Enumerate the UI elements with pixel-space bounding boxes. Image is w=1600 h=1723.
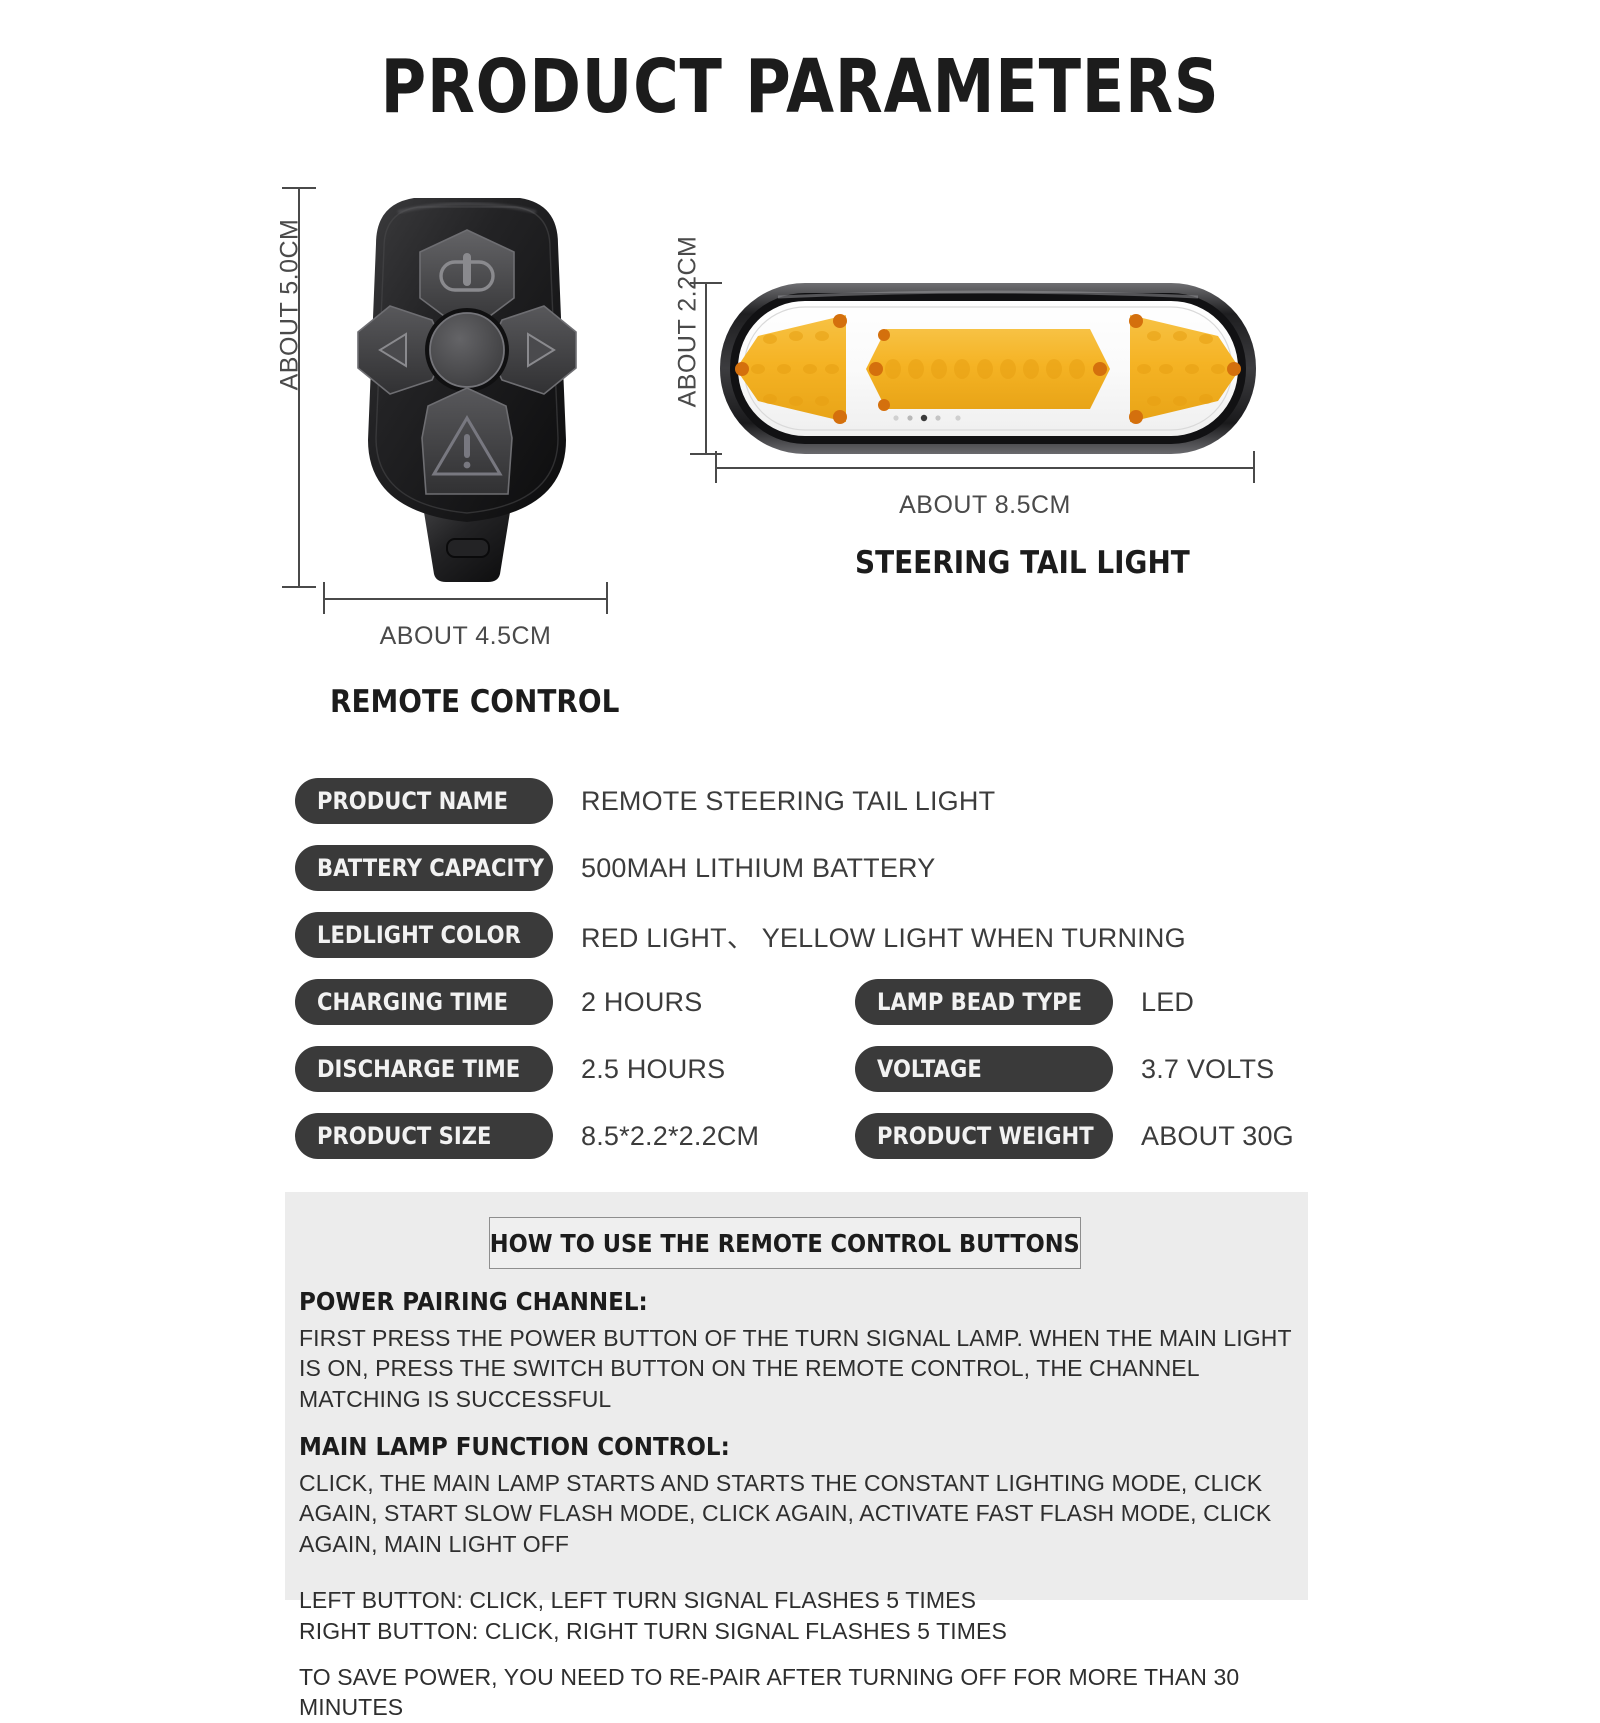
spec-value: 2 HOURS: [581, 987, 702, 1018]
status-badge: LEDLIGHT COLOR: [295, 912, 553, 958]
remote-height-tick-bottom: [282, 586, 316, 588]
instructions-title: HOW TO USE THE REMOTE CONTROL BUTTONS: [490, 1229, 1080, 1258]
table-row: CHARGING TIME 2 HOURS LAMP BEAD TYPE LED: [295, 979, 1305, 1046]
remote-control-caption: REMOTE CONTROL: [330, 684, 619, 720]
status-badge: PRODUCT WEIGHT: [855, 1113, 1113, 1159]
right-button-line: RIGHT BUTTON: CLICK, RIGHT TURN SIGNAL F…: [299, 1616, 1294, 1646]
instructions-title-box: HOW TO USE THE REMOTE CONTROL BUTTONS: [489, 1217, 1081, 1269]
table-row: BATTERY CAPACITY 500MAH LITHIUM BATTERY: [295, 845, 1305, 912]
main-lamp-heading: MAIN LAMP FUNCTION CONTROL:: [299, 1432, 1214, 1461]
spec-cell-voltage: VOLTAGE 3.7 VOLTS: [855, 1046, 1274, 1092]
spec-cell-product-size: PRODUCT SIZE 8.5*2.2*2.2CM: [295, 1113, 759, 1159]
pairing-body: FIRST PRESS THE POWER BUTTON OF THE TURN…: [299, 1323, 1294, 1414]
spacer: [299, 1569, 1294, 1585]
taillight-height-dimension-line: [705, 283, 707, 455]
taillight-height-label: ABOUT 2.2CM: [674, 222, 703, 422]
instructions-body: POWER PAIRING CHANNEL: FIRST PRESS THE P…: [299, 1287, 1294, 1723]
table-row: PRODUCT SIZE 8.5*2.2*2.2CM PRODUCT WEIGH…: [295, 1113, 1305, 1180]
spec-label: PRODUCT WEIGHT: [877, 1122, 1094, 1150]
page-title: PRODUCT PARAMETERS: [128, 44, 1472, 130]
taillight-width-tick-right: [1253, 451, 1255, 483]
spec-cell-product-name: PRODUCT NAME REMOTE STEERING TAIL LIGHT: [295, 778, 995, 824]
spec-value: 500MAH LITHIUM BATTERY: [581, 853, 935, 884]
spec-cell-lamp-bead-type: LAMP BEAD TYPE LED: [855, 979, 1194, 1025]
instructions-panel: HOW TO USE THE REMOTE CONTROL BUTTONS PO…: [285, 1192, 1308, 1600]
spec-label: LEDLIGHT COLOR: [317, 921, 521, 949]
spec-value: 2.5 HOURS: [581, 1054, 725, 1085]
remote-height-label: ABOUT 5.0CM: [276, 205, 305, 405]
spec-label: BATTERY CAPACITY: [317, 854, 544, 882]
taillight-width-dimension-line: [715, 467, 1255, 469]
table-row: PRODUCT NAME REMOTE STEERING TAIL LIGHT: [295, 778, 1305, 845]
spec-value: ABOUT 30G: [1141, 1121, 1294, 1152]
left-button-line: LEFT BUTTON: CLICK, LEFT TURN SIGNAL FLA…: [299, 1585, 1294, 1615]
pairing-heading: POWER PAIRING CHANNEL:: [299, 1287, 1214, 1316]
spec-cell-battery-capacity: BATTERY CAPACITY 500MAH LITHIUM BATTERY: [295, 845, 935, 891]
spec-cell-charging-time: CHARGING TIME 2 HOURS: [295, 979, 702, 1025]
remote-width-dimension-line: [323, 598, 608, 600]
taillight-width-tick-left: [715, 451, 717, 483]
main-lamp-body: CLICK, THE MAIN LAMP STARTS AND STARTS T…: [299, 1468, 1294, 1559]
remote-control-figure: ABOUT 5.0CM: [250, 170, 650, 670]
status-badge: CHARGING TIME: [295, 979, 553, 1025]
status-badge: LAMP BEAD TYPE: [855, 979, 1113, 1025]
spec-label: DISCHARGE TIME: [317, 1055, 520, 1083]
taillight-width-label: ABOUT 8.5CM: [715, 491, 1255, 520]
spec-label: LAMP BEAD TYPE: [877, 988, 1082, 1016]
table-row: LEDLIGHT COLOR RED LIGHT、 YELLOW LIGHT W…: [295, 912, 1305, 979]
spec-table: PRODUCT NAME REMOTE STEERING TAIL LIGHT …: [295, 778, 1305, 1180]
remote-width-label: ABOUT 4.5CM: [323, 622, 608, 651]
status-badge: PRODUCT SIZE: [295, 1113, 553, 1159]
circle-icon: [430, 313, 504, 387]
remote-height-tick-top: [282, 187, 316, 189]
spec-label: PRODUCT SIZE: [317, 1122, 491, 1150]
remote-width-tick-right: [606, 582, 608, 614]
spec-value: 8.5*2.2*2.2CM: [581, 1121, 759, 1152]
spec-value: LED: [1141, 987, 1194, 1018]
tail-light-image: [718, 281, 1258, 456]
table-row: DISCHARGE TIME 2.5 HOURS VOLTAGE 3.7 VOL…: [295, 1046, 1305, 1113]
remote-width-tick-left: [323, 582, 325, 614]
spec-value: 3.7 VOLTS: [1141, 1054, 1274, 1085]
power-save-line: TO SAVE POWER, YOU NEED TO RE-PAIR AFTER…: [299, 1662, 1294, 1723]
spec-label: CHARGING TIME: [317, 988, 508, 1016]
status-badge: VOLTAGE: [855, 1046, 1113, 1092]
spec-cell-ledlight-color: LEDLIGHT COLOR RED LIGHT、 YELLOW LIGHT W…: [295, 912, 1186, 958]
spec-value: RED LIGHT、 YELLOW LIGHT WHEN TURNING: [581, 916, 1186, 955]
tail-light-caption: STEERING TAIL LIGHT: [855, 545, 1190, 581]
status-badge: BATTERY CAPACITY: [295, 845, 553, 891]
status-badge: PRODUCT NAME: [295, 778, 553, 824]
spec-cell-discharge-time: DISCHARGE TIME 2.5 HOURS: [295, 1046, 725, 1092]
spec-label: VOLTAGE: [877, 1055, 982, 1083]
status-badge: DISCHARGE TIME: [295, 1046, 553, 1092]
tail-light-figure: ABOUT 2.2CM: [650, 275, 1310, 525]
spec-value: REMOTE STEERING TAIL LIGHT: [581, 786, 995, 817]
spec-cell-product-weight: PRODUCT WEIGHT ABOUT 30G: [855, 1113, 1294, 1159]
spacer: [299, 1646, 1294, 1662]
remote-control-image: [328, 182, 606, 587]
spec-label: PRODUCT NAME: [317, 787, 508, 815]
